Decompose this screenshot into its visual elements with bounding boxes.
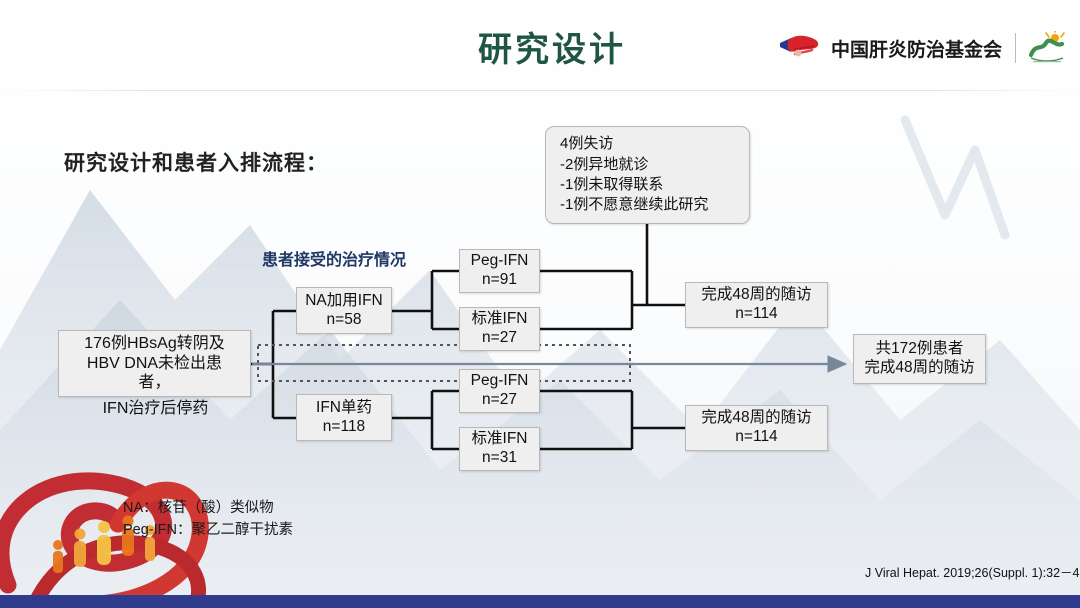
entry-cohort-box: 176例HBsAg转阴及 HBV DNA未检出患 者， IFN治疗后停药 xyxy=(58,330,251,397)
arm-count: n=58 xyxy=(327,311,362,330)
entry-line-3: 者， xyxy=(138,373,170,393)
red-hand-logo-icon xyxy=(778,32,822,64)
entry-line-1: 176例HBsAg转阴及 xyxy=(84,334,225,354)
dropout-box: 4例失访 -2例异地就诊 -1例未取得联系 -1例不愿意继续此研究 xyxy=(545,126,750,224)
arm-label: IFN单药 xyxy=(316,399,372,418)
dropout-line-3: -1例未取得联系 xyxy=(560,175,663,195)
foundation-logo: 中国肝炎防治基金会 xyxy=(778,28,1065,68)
page-title: 研究设计 xyxy=(478,22,626,71)
total-line-1: 共172例患者 xyxy=(876,340,964,359)
subgroup-count: n=27 xyxy=(482,391,517,410)
dropout-line-1: 4例失访 xyxy=(560,134,613,154)
arm-box-na-plus-ifn: NA加用IFN n=58 xyxy=(296,287,392,334)
arm-count: n=118 xyxy=(323,418,365,437)
foundation-name: 中国肝炎防治基金会 xyxy=(831,35,1002,62)
followup-label: 完成48周的随访 xyxy=(701,286,811,305)
followup-box-upper: 完成48周的随访 n=114 xyxy=(685,282,828,328)
subgroup-count: n=91 xyxy=(482,271,517,290)
section-heading: 研究设计和患者入排流程： xyxy=(64,147,328,177)
footer-bar xyxy=(0,595,1080,608)
subgroup-count: n=27 xyxy=(482,329,517,348)
legend-line-2: Peg-IFN：聚乙二醇干扰素 xyxy=(123,520,293,542)
subgroup-box-standard-ifn-na: 标准IFN n=27 xyxy=(459,307,540,351)
subgroup-box-peg-ifn-mono: Peg-IFN n=27 xyxy=(459,369,540,413)
slide-header: 研究设计 中国肝炎防治基金会 xyxy=(0,0,1080,92)
entry-line-2: HBV DNA未检出患 xyxy=(87,354,222,374)
subgroup-label: Peg-IFN xyxy=(471,372,529,391)
header-divider xyxy=(0,90,1080,91)
treatment-group-label: 患者接受的治疗情况 xyxy=(262,246,406,270)
arm-box-ifn-mono: IFN单药 n=118 xyxy=(296,394,392,441)
entry-line-4: IFN治疗后停药 xyxy=(59,399,252,419)
citation-text: J Viral Hepat. 2019;26(Suppl. 1):32－41. xyxy=(865,562,1080,581)
subgroup-label: Peg-IFN xyxy=(471,252,529,271)
subgroup-count: n=31 xyxy=(482,449,517,468)
followup-box-lower: 完成48周的随访 n=114 xyxy=(685,405,828,451)
subgroup-label: 标准IFN xyxy=(472,430,528,449)
subgroup-label: 标准IFN xyxy=(472,310,528,329)
subgroup-box-standard-ifn-mono: 标准IFN n=31 xyxy=(459,427,540,471)
legend-line-1: NA：核苷（酸）类似物 xyxy=(123,498,293,520)
arm-label: NA加用IFN xyxy=(305,292,383,311)
abbreviation-legend: NA：核苷（酸）类似物 Peg-IFN：聚乙二醇干扰素 xyxy=(123,498,293,542)
followup-label: 完成48周的随访 xyxy=(701,409,811,428)
dropout-line-2: -2例异地就诊 xyxy=(560,155,648,175)
subgroup-box-peg-ifn-na: Peg-IFN n=91 xyxy=(459,249,540,293)
followup-count: n=114 xyxy=(735,428,777,447)
total-completion-box: 共172例患者 完成48周的随访 xyxy=(853,334,986,384)
logo-divider xyxy=(1015,33,1016,63)
total-line-2: 完成48周的随访 xyxy=(864,359,974,378)
green-foundation-mark-icon xyxy=(1029,31,1065,65)
followup-count: n=114 xyxy=(735,305,777,324)
dropout-line-4: -1例不愿意继续此研究 xyxy=(560,195,708,215)
